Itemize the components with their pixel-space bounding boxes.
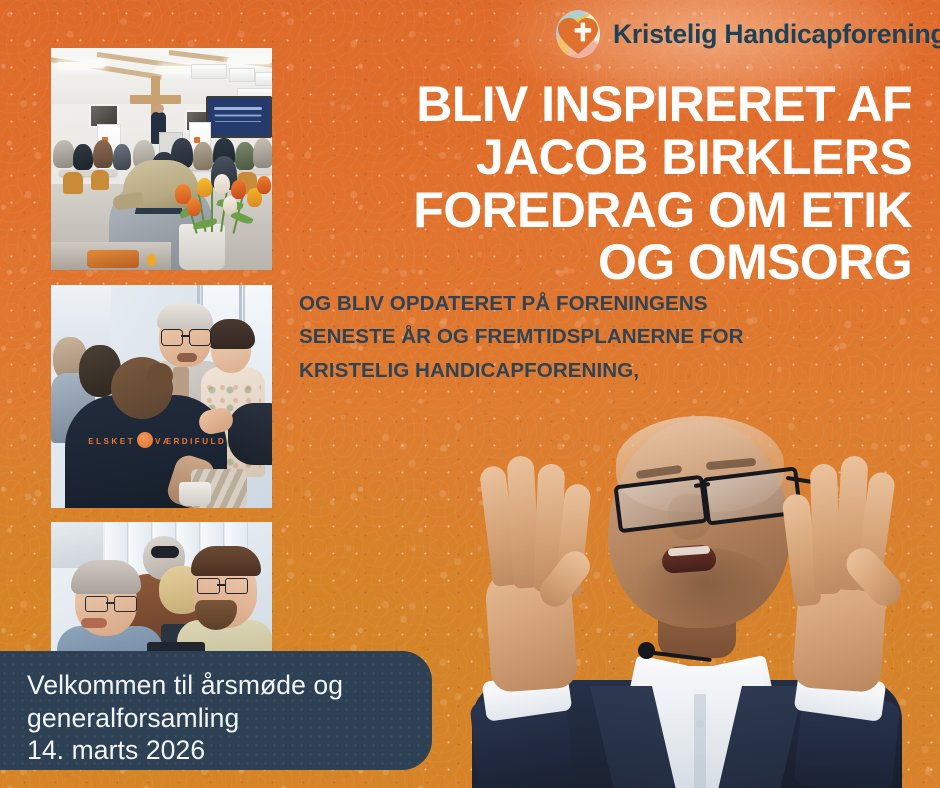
brand-name: Kristelig Handicapforening xyxy=(613,21,940,48)
headline-line-4: OG OMSORG xyxy=(300,236,912,289)
poster-canvas: Kristelig Handicapforening xyxy=(0,0,940,788)
greeting-photo: ELSKET VÆRDIFULD xyxy=(51,285,272,508)
jacob-birkler-portrait xyxy=(430,398,940,788)
event-banner: Velkommen til årsmøde og generalforsamli… xyxy=(0,651,432,770)
subheading-line-1: OG BLIV OPDATERET PÅ FORENINGENS xyxy=(299,287,859,320)
headline-line-3: FOREDRAG OM ETIK xyxy=(300,184,912,237)
subheading-line-3: KRISTELIG HANDICAPFORENING, xyxy=(299,354,859,387)
eyeglasses-icon xyxy=(614,470,800,518)
shirt-text-right: VÆRDIFULD xyxy=(155,437,231,446)
glasses-icon xyxy=(197,578,247,592)
brand-logo: Kristelig Handicapforening xyxy=(552,10,940,58)
event-banner-line-3: 14. marts 2026 xyxy=(27,734,343,767)
glasses-icon xyxy=(161,329,209,344)
association-mark-icon xyxy=(137,432,153,448)
headline-line-1: BLIV INSPIRERET AF xyxy=(300,78,912,131)
subheading-line-2: SENESTE ÅR OG FREMTIDSPLANERNE FOR xyxy=(299,320,859,353)
shirt-text-left: ELSKET xyxy=(65,437,135,446)
event-banner-text: Velkommen til årsmøde og generalforsamli… xyxy=(27,669,343,767)
event-banner-line-1: Velkommen til årsmøde og xyxy=(27,669,343,702)
headline-line-2: JACOB BIRKLERS xyxy=(300,131,912,184)
heart-cross-logo-icon xyxy=(552,10,604,58)
glasses-icon xyxy=(85,596,135,610)
event-banner-line-2: generalforsamling xyxy=(27,702,343,735)
conversation-photo xyxy=(51,522,272,660)
meeting-hall-photo xyxy=(51,48,272,270)
headline: BLIV INSPIRERET AF JACOB BIRKLERS FOREDR… xyxy=(300,78,912,289)
subheading: OG BLIV OPDATERET PÅ FORENINGENS SENESTE… xyxy=(299,287,859,387)
